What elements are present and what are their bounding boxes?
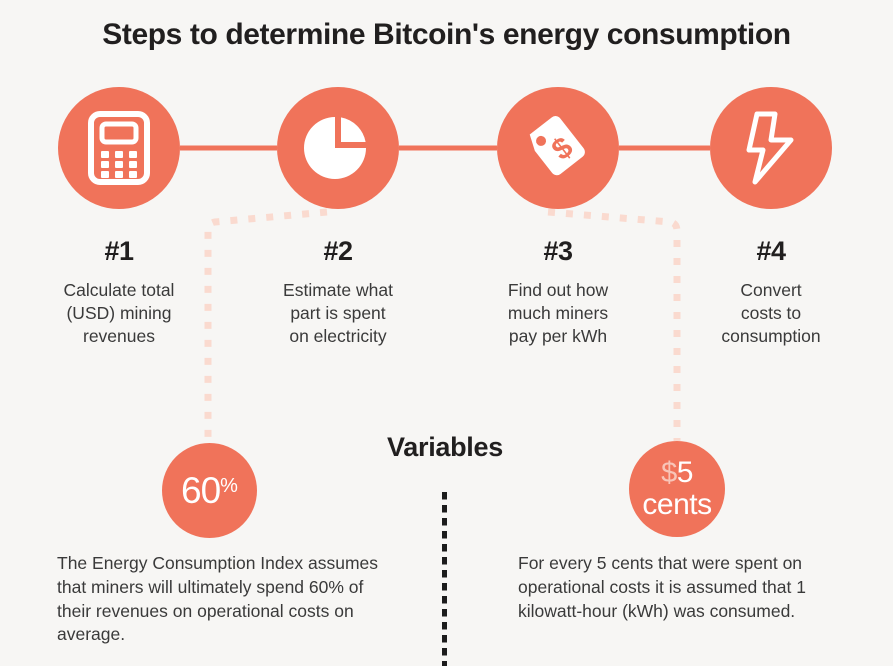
step-description-2: Estimate what part is spent on electrici…: [243, 279, 433, 348]
variable-cents-currency: $: [661, 457, 677, 489]
variable-note-percent: The Energy Consumption Index assumes tha…: [57, 552, 387, 647]
step-description-1: Calculate total (USD) mining revenues: [24, 279, 214, 348]
infographic-root: Steps to determine Bitcoin's energy cons…: [0, 0, 893, 666]
step-description-3: Find out how much miners pay per kWh: [463, 279, 653, 348]
step-description-4: Convert costs to consumption: [676, 279, 866, 348]
step-circle-1[interactable]: [58, 87, 180, 209]
variable-percent-value: 60: [181, 470, 220, 511]
step-circle-3[interactable]: $: [497, 87, 619, 209]
step-caption-4: #4 Convert costs to consumption: [676, 238, 866, 348]
variable-bubble-percent[interactable]: 60%: [162, 443, 257, 538]
step-circle-2[interactable]: [277, 87, 399, 209]
lightning-bolt-icon: [743, 110, 799, 186]
step-number-3: #3: [463, 238, 653, 265]
step-circle-4[interactable]: [710, 87, 832, 209]
variables-heading: Variables: [355, 432, 535, 463]
step-number-4: #4: [676, 238, 866, 265]
variable-percent-unit: %: [220, 475, 238, 497]
variable-cents-unit: cents: [642, 490, 711, 520]
variable-cents-amount-group: $5: [661, 458, 693, 488]
pie-chart-icon: [302, 112, 374, 184]
variable-percent-value-group: 60%: [181, 472, 238, 509]
step-caption-2: #2 Estimate what part is spent on electr…: [243, 238, 433, 348]
variable-note-cents: For every 5 cents that were spent on ope…: [518, 552, 848, 623]
page-title: Steps to determine Bitcoin's energy cons…: [0, 18, 893, 52]
price-tag-dollar-icon: $: [521, 111, 595, 185]
step-number-2: #2: [243, 238, 433, 265]
step-number-1: #1: [24, 238, 214, 265]
step-caption-3: #3 Find out how much miners pay per kWh: [463, 238, 653, 348]
variable-bubble-cents[interactable]: $5 cents: [629, 441, 725, 537]
bottom-dashed-divider: [442, 492, 447, 666]
step-caption-1: #1 Calculate total (USD) mining revenues: [24, 238, 214, 348]
variable-cents-value: 5: [677, 456, 693, 489]
calculator-icon: [88, 111, 150, 185]
